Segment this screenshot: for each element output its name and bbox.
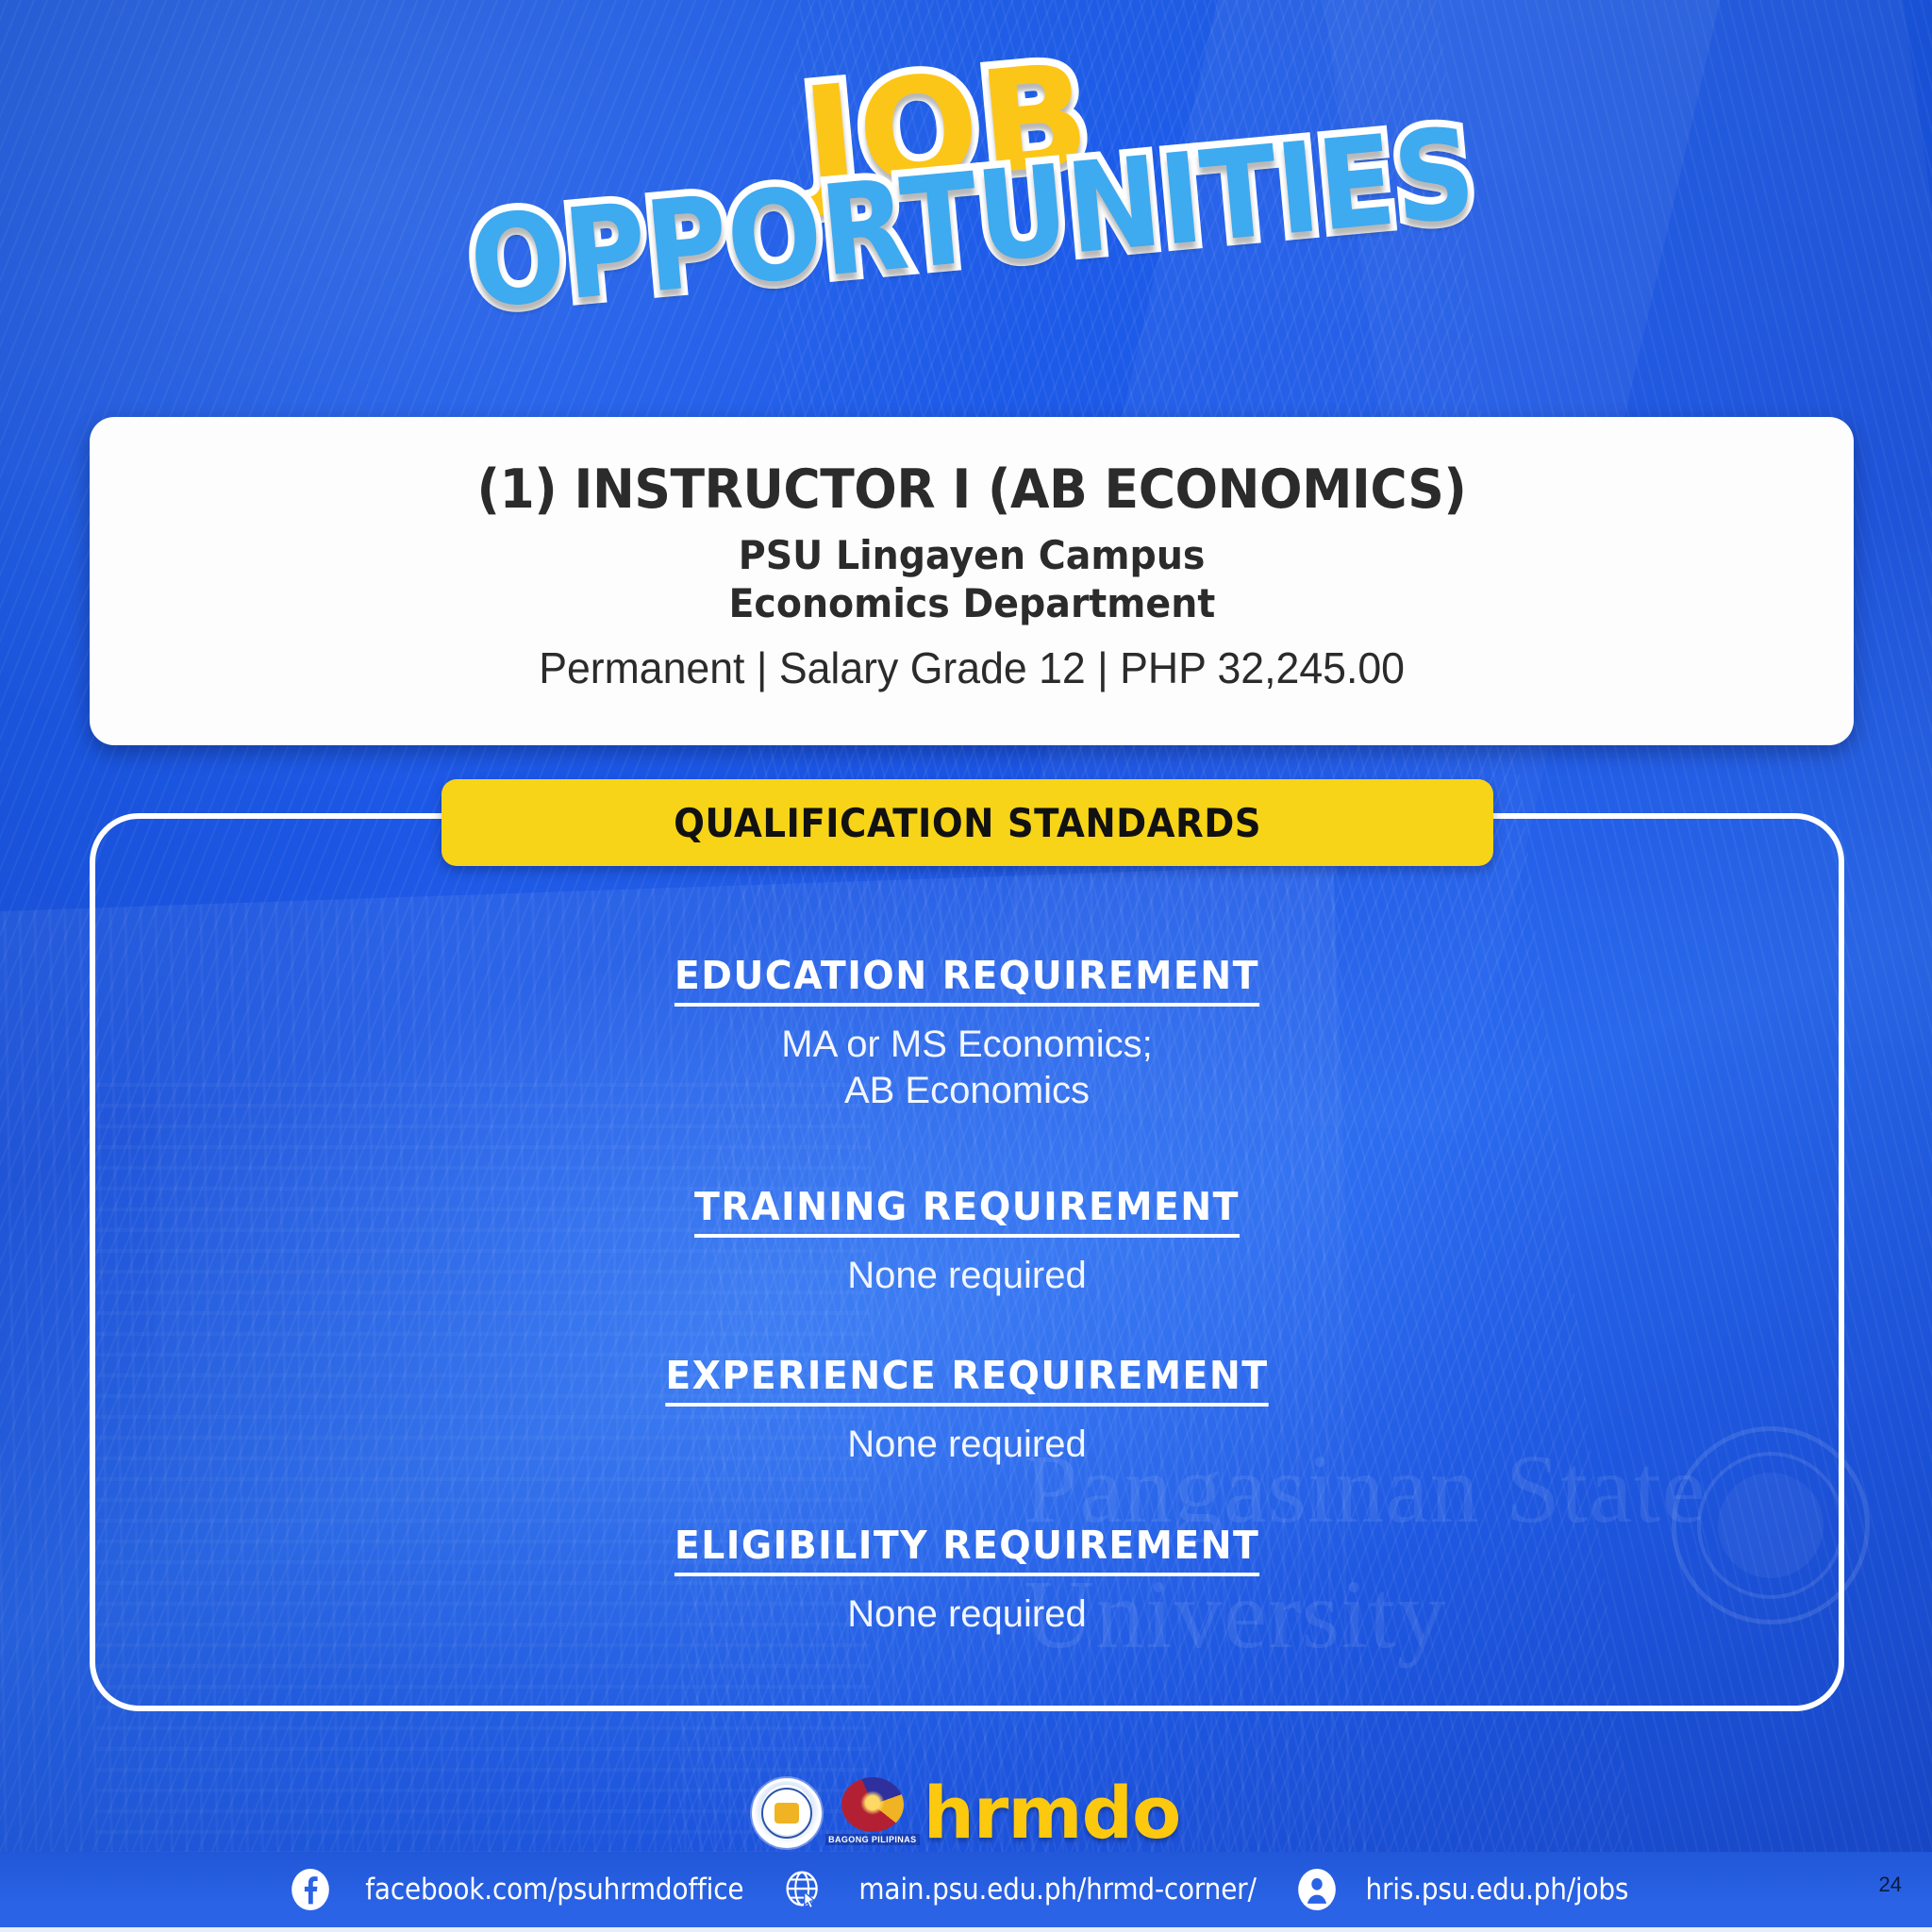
footer-link-website[interactable]: main.psu.edu.ph/hrmd-corner/: [781, 1868, 1278, 1911]
job-title: (1) INSTRUCTOR I (AB ECONOMICS): [477, 461, 1467, 520]
requirement-value: None required: [683, 1253, 1251, 1299]
qualification-standards-banner: QUALIFICATION STANDARDS: [441, 779, 1493, 866]
requirement-label: TRAINING REQUIREMENT: [694, 1184, 1240, 1238]
requirement-label: EXPERIENCE REQUIREMENT: [665, 1353, 1268, 1407]
requirement-experience: EXPERIENCE REQUIREMENT None required: [653, 1353, 1281, 1468]
qualification-standards-banner-label: QUALIFICATION STANDARDS: [674, 800, 1261, 846]
requirement-label: EDUCATION REQUIREMENT: [675, 953, 1259, 1007]
globe-icon: [784, 1868, 823, 1911]
page-number: 24: [1879, 1873, 1902, 1897]
psu-seal-icon: [752, 1778, 822, 1848]
bagong-pilipinas-caption: BAGONG PILIPINAS: [825, 1834, 919, 1845]
hrmdo-logo: hrmdo: [924, 1777, 1180, 1849]
footer-link-label: main.psu.edu.ph/hrmd-corner/: [859, 1873, 1257, 1907]
requirement-education: EDUCATION REQUIREMENT MA or MS Economics…: [662, 953, 1272, 1114]
job-campus: PSU Lingayen Campus: [739, 532, 1206, 579]
requirements-list: EDUCATION REQUIREMENT MA or MS Economics…: [90, 953, 1844, 1638]
job-department: Economics Department: [728, 580, 1215, 627]
requirement-value: MA or MS Economics;AB Economics: [662, 1022, 1272, 1114]
requirement-label: ELIGIBILITY REQUIREMENT: [675, 1523, 1259, 1576]
job-employment-meta: Permanent | Salary Grade 12 | PHP 32,245…: [539, 642, 1405, 693]
footer-link-hris[interactable]: hris.psu.edu.ph/jobs: [1295, 1868, 1643, 1911]
footer-link-label: hris.psu.edu.ph/jobs: [1366, 1873, 1629, 1907]
requirement-eligibility: ELIGIBILITY REQUIREMENT None required: [662, 1523, 1272, 1638]
bagong-pilipinas-disc: [841, 1777, 904, 1832]
requirement-value: None required: [653, 1422, 1281, 1468]
job-summary-card: (1) INSTRUCTOR I (AB ECONOMICS) PSU Ling…: [90, 417, 1854, 745]
requirement-training: TRAINING REQUIREMENT None required: [683, 1184, 1251, 1299]
footer-link-label: facebook.com/psuhrmdoffice: [365, 1873, 743, 1907]
footer-link-facebook[interactable]: facebook.com/psuhrmdoffice: [289, 1868, 765, 1911]
branding-row: BAGONG PILIPINAS hrmdo: [0, 1772, 1932, 1855]
facebook-icon: [291, 1868, 329, 1911]
bagong-pilipinas-icon: BAGONG PILIPINAS: [837, 1777, 908, 1849]
user-icon: [1298, 1868, 1337, 1911]
footer-links-bar: facebook.com/psuhrmdoffice main.psu.edu.…: [0, 1852, 1932, 1932]
requirement-value: None required: [662, 1591, 1272, 1638]
